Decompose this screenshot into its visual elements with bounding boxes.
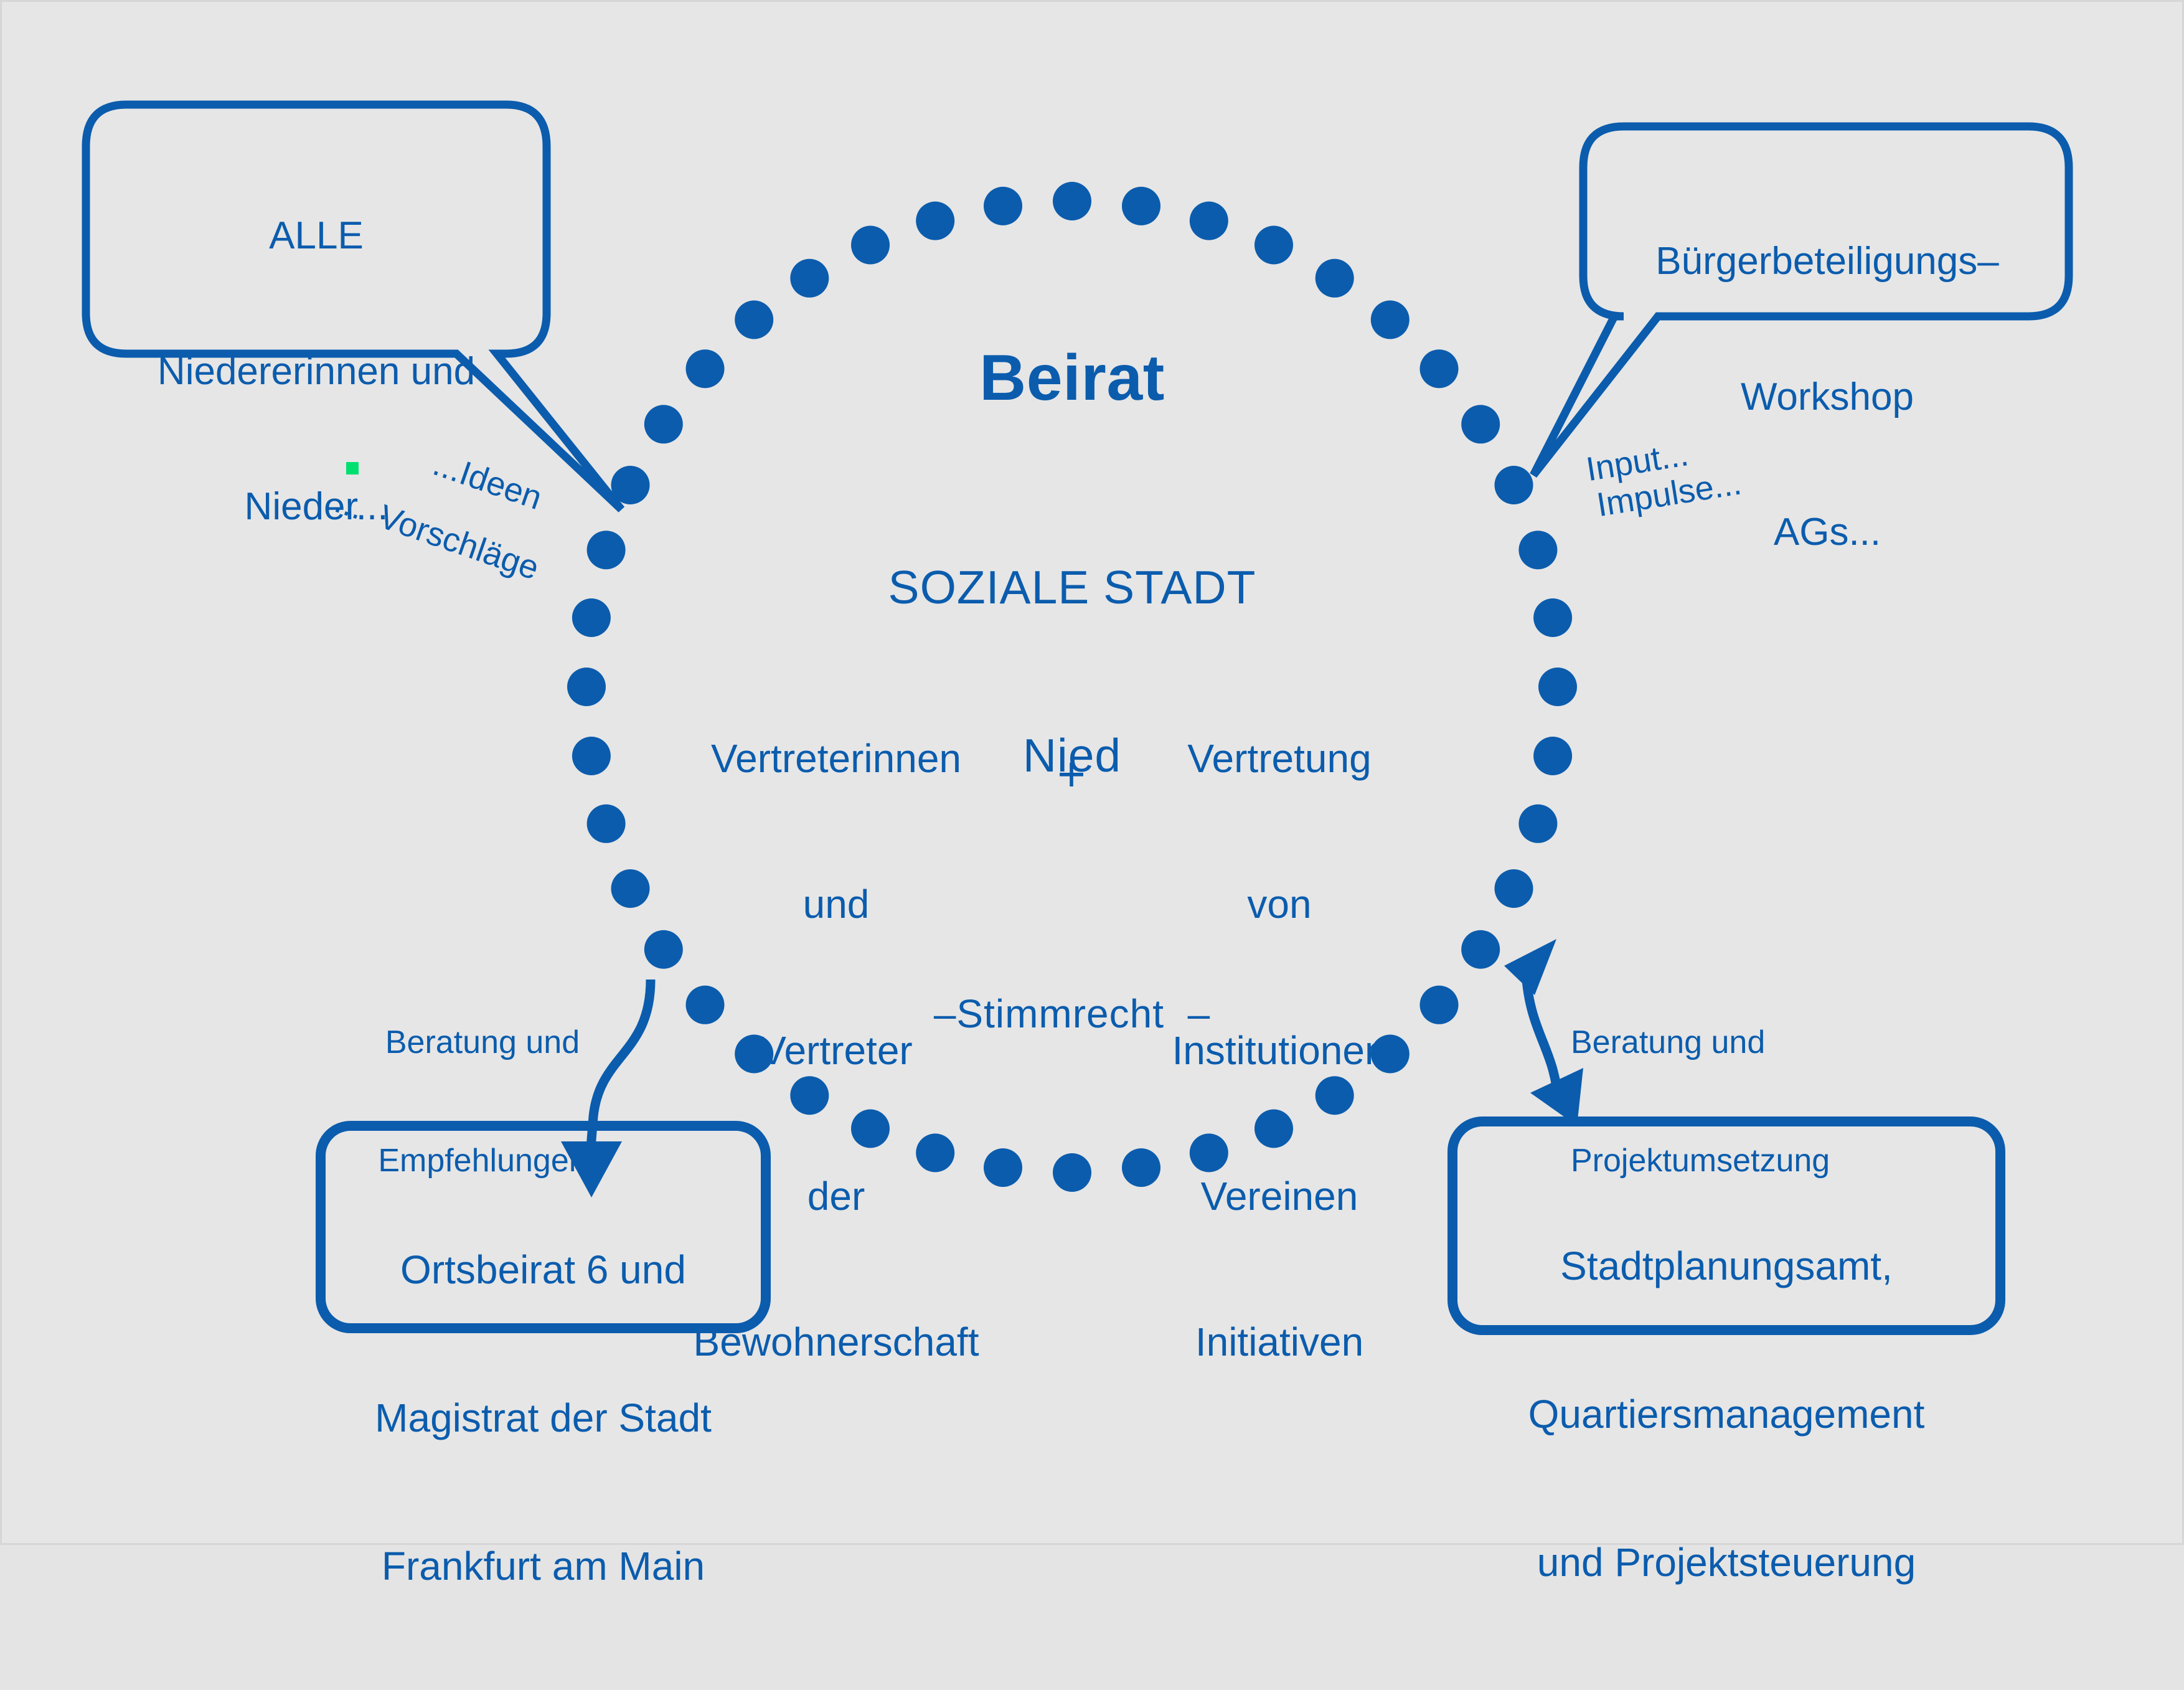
- plus-operator: +: [1028, 746, 1115, 803]
- circle-dot: [1190, 202, 1228, 240]
- circle-dot: [572, 598, 611, 637]
- right-col-line-1: Vertretung: [1130, 734, 1429, 783]
- circle-dot: [1495, 869, 1533, 908]
- circle-dot: [1122, 187, 1160, 225]
- circle-dot: [1420, 349, 1459, 388]
- circle-dot: [611, 869, 650, 908]
- circle-dot: [1518, 805, 1557, 843]
- bl-box-line-2: Magistrat der Stadt: [321, 1394, 766, 1443]
- circle-dot: [686, 349, 725, 388]
- arrow-right-head-up: [1504, 939, 1556, 995]
- circle-dot: [587, 531, 626, 569]
- bottom-right-box-text: Stadtplanungsamt, Quartiersmanagement un…: [1452, 1143, 2000, 1686]
- circle-dot: [1533, 598, 1572, 637]
- bubble-tl-line-1: ALLE: [89, 214, 544, 259]
- circle-dot: [790, 259, 829, 298]
- diagram-canvas: ALLE Niedererinnen und Nieder... Bürgerb…: [0, 0, 2184, 1545]
- bottom-left-box-text: Ortsbeirat 6 und Magistrat der Stadt Fra…: [321, 1146, 766, 1690]
- circle-dot: [1538, 668, 1577, 706]
- green-marker-dot: [346, 462, 359, 474]
- circle-dot: [1495, 466, 1533, 504]
- circle-dot: [984, 187, 1022, 225]
- br-box-line-3: und Projektsteuerung: [1452, 1538, 2000, 1587]
- circle-dot: [851, 226, 890, 265]
- circle-dot: [1533, 737, 1572, 775]
- right-col-line-5: Initiativen: [1130, 1318, 1429, 1366]
- center-right-column: Vertretung von Institutionen Vereinen In…: [1130, 637, 1429, 1463]
- circle-dot: [1316, 259, 1354, 298]
- left-outflow-line-1: Beratung und: [339, 1023, 626, 1062]
- voting-rights-note: –Stimmrecht –: [761, 991, 1383, 1037]
- circle-dot: [587, 805, 626, 843]
- circle-dot: [1461, 930, 1500, 969]
- bubble-tl-line-2: Niedererinnen und: [89, 349, 544, 395]
- right-col-line-2: von: [1130, 880, 1429, 928]
- right-col-line-4: Vereinen: [1130, 1172, 1429, 1220]
- circle-dot: [1461, 405, 1500, 443]
- bubble-tr-line-1: Bürgerbeteiligungs–: [1588, 239, 2066, 285]
- bubble-top-right-text: Bürgerbeteiligungs– Workshop AGs...: [1588, 149, 2066, 646]
- left-col-line-1: Vertreterinnen: [674, 734, 998, 783]
- left-col-line-2: und: [674, 880, 998, 928]
- circle-dot: [644, 405, 683, 443]
- circle-dot: [567, 668, 606, 706]
- circle-dot: [1518, 531, 1557, 569]
- right-outflow-line-1: Beratung und: [1571, 1023, 1863, 1062]
- circle-dot: [1053, 1153, 1091, 1192]
- circle-dot: [1053, 182, 1091, 220]
- circle-dot: [916, 202, 954, 240]
- bubble-tr-line-2: Workshop: [1588, 375, 2066, 420]
- circle-dot: [735, 301, 773, 339]
- center-title: Beirat: [761, 341, 1383, 415]
- br-box-line-1: Stadtplanungsamt,: [1452, 1242, 2000, 1291]
- circle-dot: [1371, 301, 1410, 339]
- circle-dot: [1254, 226, 1293, 265]
- bl-box-line-1: Ortsbeirat 6 und: [321, 1245, 766, 1295]
- br-box-line-2: Quartiersmanagement: [1452, 1390, 2000, 1439]
- bl-box-line-3: Frankfurt am Main: [321, 1542, 766, 1591]
- center-subtitle-line-1: SOZIALE STADT: [761, 559, 1383, 615]
- circle-dot: [572, 737, 611, 775]
